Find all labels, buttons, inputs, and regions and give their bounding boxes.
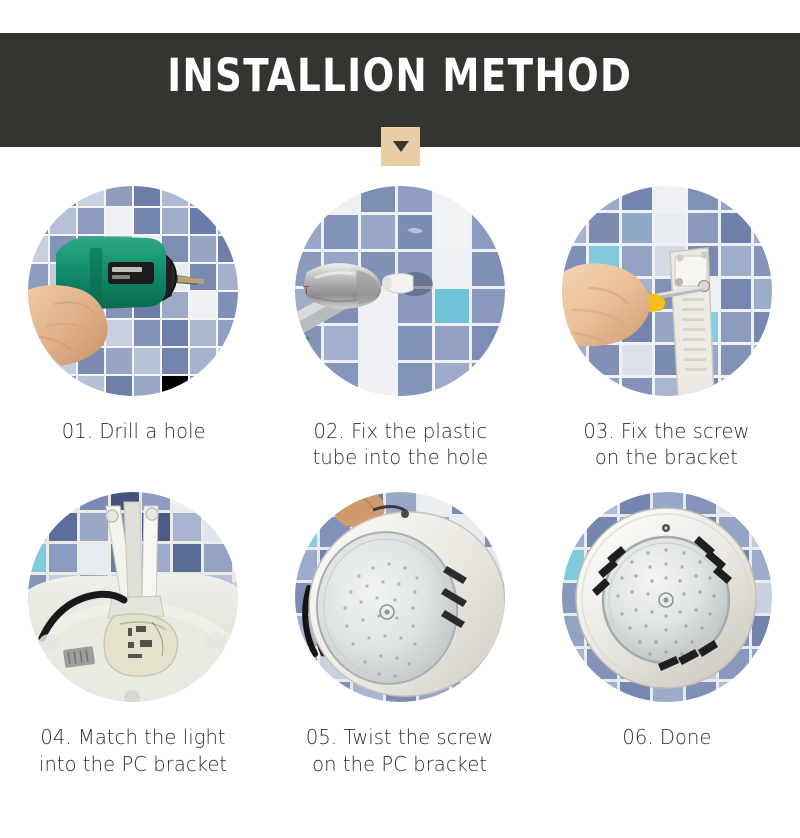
step-card-05: 05. Twist the screw on the PC bracket bbox=[267, 492, 534, 776]
triangle-down-icon bbox=[393, 141, 409, 152]
photo-fix-screw-on-bracket bbox=[562, 186, 772, 396]
step-caption-05: 05. Twist the screw on the PC bracket bbox=[306, 724, 493, 776]
step-caption-06: 06. Done bbox=[622, 724, 711, 750]
photo-done bbox=[562, 492, 772, 702]
step-caption-01: 01. Drill a hole bbox=[61, 418, 205, 444]
svg-text:T: T bbox=[302, 284, 310, 297]
photo-twist-screw-on-bracket bbox=[295, 492, 505, 702]
photo-fix-plastic-tube: T bbox=[295, 186, 505, 396]
step-card-06: 06. Done bbox=[533, 492, 800, 776]
step-card-03: 03. Fix the screw on the bracket bbox=[533, 186, 800, 470]
page-title: INSTALLION METHOD bbox=[167, 53, 632, 98]
photo-match-light-into-bracket bbox=[28, 492, 238, 702]
step-card-02: T 02. Fix the plastic tube into the hole bbox=[267, 186, 534, 470]
installation-steps-grid: 01. Drill a hole bbox=[0, 186, 800, 777]
step-caption-04: 04. Match the light into the PC bracket bbox=[39, 724, 227, 776]
step-caption-03: 03. Fix the screw on the bracket bbox=[584, 418, 750, 470]
step-card-04: 04. Match the light into the PC bracket bbox=[0, 492, 267, 776]
step-card-01: 01. Drill a hole bbox=[0, 186, 267, 470]
photo-drill-a-hole bbox=[28, 186, 238, 396]
step-caption-02: 02. Fix the plastic tube into the hole bbox=[312, 418, 488, 470]
scroll-down-badge[interactable] bbox=[381, 127, 420, 166]
